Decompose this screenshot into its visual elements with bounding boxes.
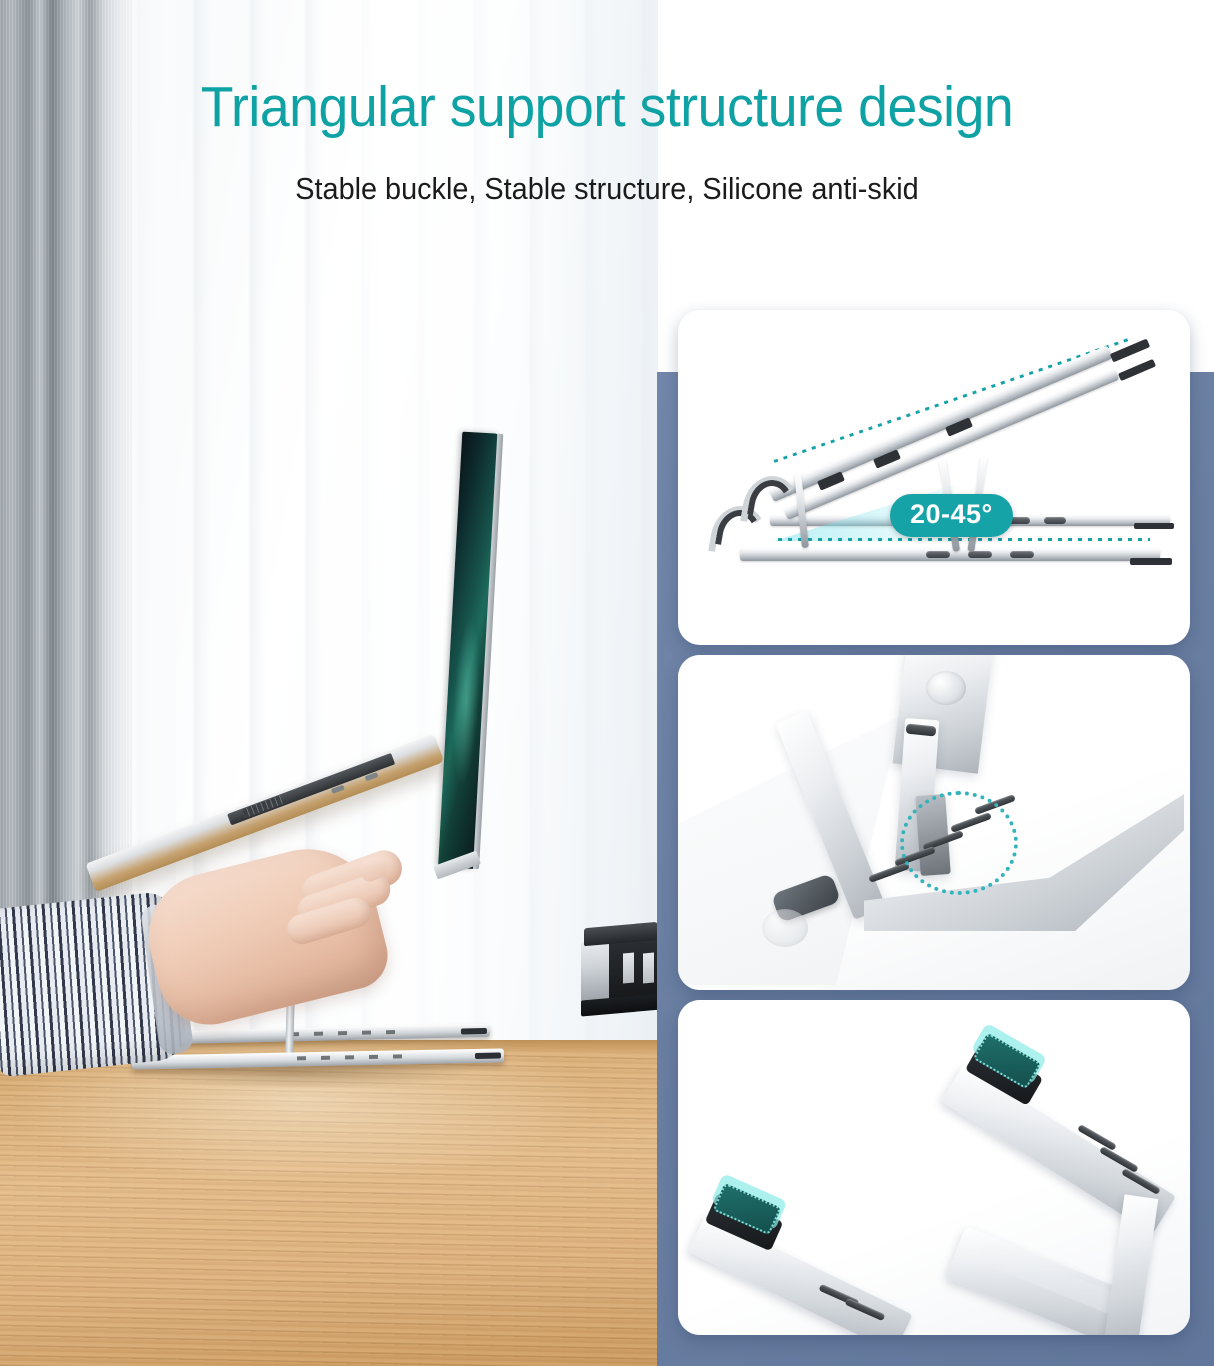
stapler-metal-1 — [623, 953, 634, 984]
base-notch-2 — [968, 551, 992, 558]
stand-vertical-leg — [1104, 1194, 1159, 1335]
buckle-highlight-circle — [900, 791, 1018, 895]
base-notch-1 — [926, 551, 950, 558]
top-plate-back-cap — [1118, 359, 1156, 381]
notch-slot-5 — [868, 862, 910, 883]
page-title: Triangular support structure design — [36, 78, 1177, 137]
base-rail-front-cap — [1130, 558, 1172, 565]
feature-card-adjustable-angle: 20-45° — [678, 310, 1190, 645]
brace-closeup-illustration — [678, 655, 1190, 990]
silicone-pads-illustration — [678, 1000, 1190, 1335]
angle-range-badge: 20-45° — [890, 494, 1013, 537]
stand-side-view-illustration: 20-45° — [678, 310, 1190, 645]
stapler — [581, 925, 658, 1020]
base-notch-3 — [1010, 551, 1034, 558]
product-feature-page: 20-45° — [0, 0, 1214, 1366]
base-rail-front — [740, 548, 1160, 561]
stand-notch-slots-front — [297, 1054, 417, 1060]
page-subtitle: Stable buckle, Stable structure, Silicon… — [42, 172, 1171, 206]
stapler-metal-2 — [643, 953, 654, 984]
pivot-knob-top — [926, 671, 966, 705]
stand-rail-end-cap-front — [475, 1052, 501, 1058]
angle-guide-horizontal — [778, 538, 1150, 541]
feature-card-triangular-brace — [678, 655, 1190, 990]
feature-card-silicone-pads — [678, 1000, 1190, 1335]
base-rail-back-cap — [1134, 523, 1174, 529]
pivot-knob-bottom — [762, 909, 808, 947]
base-rail-back-notch-2 — [1044, 517, 1066, 524]
stand-rail-end-cap-back — [461, 1028, 487, 1035]
stand-notch-slots-back — [290, 1030, 410, 1037]
